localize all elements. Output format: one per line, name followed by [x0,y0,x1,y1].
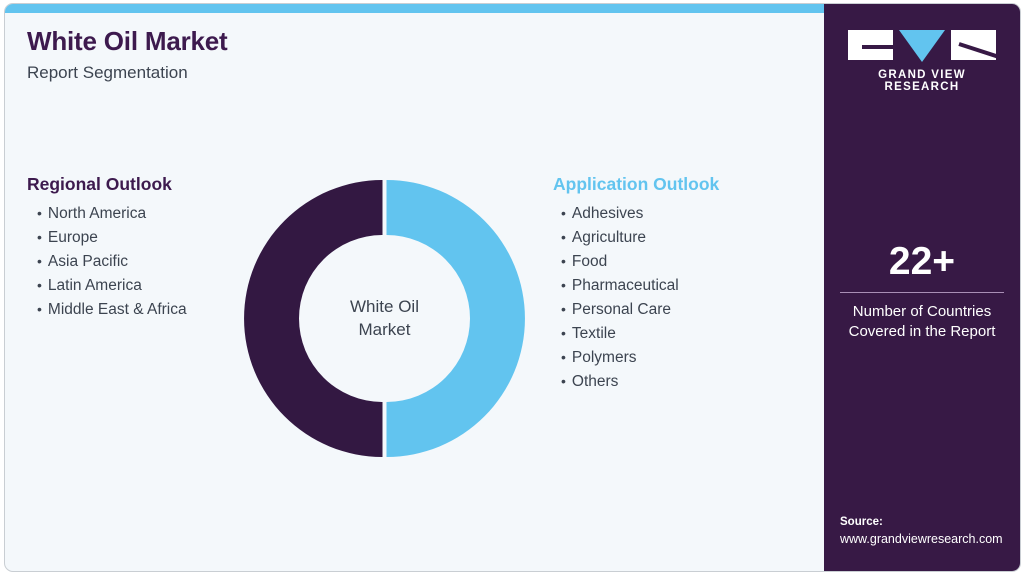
stat-value: 22+ [834,242,1010,281]
bullet-icon: • [561,326,566,340]
bullet-icon: • [37,302,42,316]
list-item: •Personal Care [553,298,813,322]
stat-caption-line1: Number of Countries [834,302,1010,322]
logo-r-icon [951,30,996,60]
source-block: Source: www.grandviewresearch.com [840,514,1016,548]
regional-outlook-section: Regional Outlook •North America •Europe … [27,174,242,322]
list-item: •Others [553,370,813,394]
list-item-label: Others [572,370,619,394]
list-item: •Asia Pacific [27,250,242,274]
application-outlook-heading: Application Outlook [553,174,813,196]
bullet-icon: • [561,206,566,220]
list-item: •Adhesives [553,202,813,226]
list-item-label: Pharmaceutical [572,274,679,298]
list-item: •Pharmaceutical [553,274,813,298]
donut-segment-application [387,180,525,457]
logo-wordmark: GRAND VIEW RESEARCH [848,69,996,93]
page-subtitle: Report Segmentation [27,63,667,83]
list-item-label: Personal Care [572,298,671,322]
page-title: White Oil Market [27,26,667,57]
regional-outlook-list: •North America •Europe •Asia Pacific •La… [27,202,242,322]
logo-g-icon [848,30,893,60]
sidebar: GRAND VIEW RESEARCH 22+ Number of Countr… [824,4,1020,572]
list-item: •Textile [553,322,813,346]
list-item-label: Textile [572,322,616,346]
header: White Oil Market Report Segmentation [27,26,667,84]
list-item-label: Adhesives [572,202,644,226]
bullet-icon: • [561,254,566,268]
infographic-card: White Oil Market Report Segmentation Reg… [4,3,1021,572]
stat-caption-line2: Covered in the Report [834,322,1010,342]
brand-logo: GRAND VIEW RESEARCH [848,30,996,93]
list-item: •Food [553,250,813,274]
list-item-label: Middle East & Africa [48,298,187,322]
list-item-label: Agriculture [572,226,646,250]
bullet-icon: • [561,350,566,364]
bullet-icon: • [37,254,42,268]
list-item: •Middle East & Africa [27,298,242,322]
regional-outlook-heading: Regional Outlook [27,174,242,196]
bullet-icon: • [561,278,566,292]
donut-segment-regional [244,180,382,457]
donut-chart: White Oil Market [243,177,526,460]
source-url[interactable]: www.grandviewresearch.com [840,531,1016,549]
top-accent-bar [5,4,826,13]
list-item: •Polymers [553,346,813,370]
logo-v-triangle-icon [899,30,945,62]
list-item: •North America [27,202,242,226]
bullet-icon: • [37,230,42,244]
bullet-icon: • [37,206,42,220]
donut-chart-svg [243,177,526,460]
application-outlook-list: •Adhesives •Agriculture •Food •Pharmaceu… [553,202,813,394]
logo-marks [848,30,996,62]
list-item-label: Polymers [572,346,637,370]
bullet-icon: • [37,278,42,292]
bullet-icon: • [561,230,566,244]
source-label: Source: [840,514,1016,531]
bullet-icon: • [561,302,566,316]
list-item-label: Food [572,250,607,274]
list-item-label: Asia Pacific [48,250,128,274]
list-item-label: North America [48,202,146,226]
stat-caption: Number of Countries Covered in the Repor… [834,302,1010,343]
list-item: •Europe [27,226,242,250]
stat-divider [840,292,1004,293]
application-outlook-section: Application Outlook •Adhesives •Agricult… [553,174,813,394]
list-item-label: Latin America [48,274,142,298]
bullet-icon: • [561,374,566,388]
list-item: •Agriculture [553,226,813,250]
list-item-label: Europe [48,226,98,250]
stat-block: 22+ Number of Countries Covered in the R… [834,242,1010,343]
list-item: •Latin America [27,274,242,298]
